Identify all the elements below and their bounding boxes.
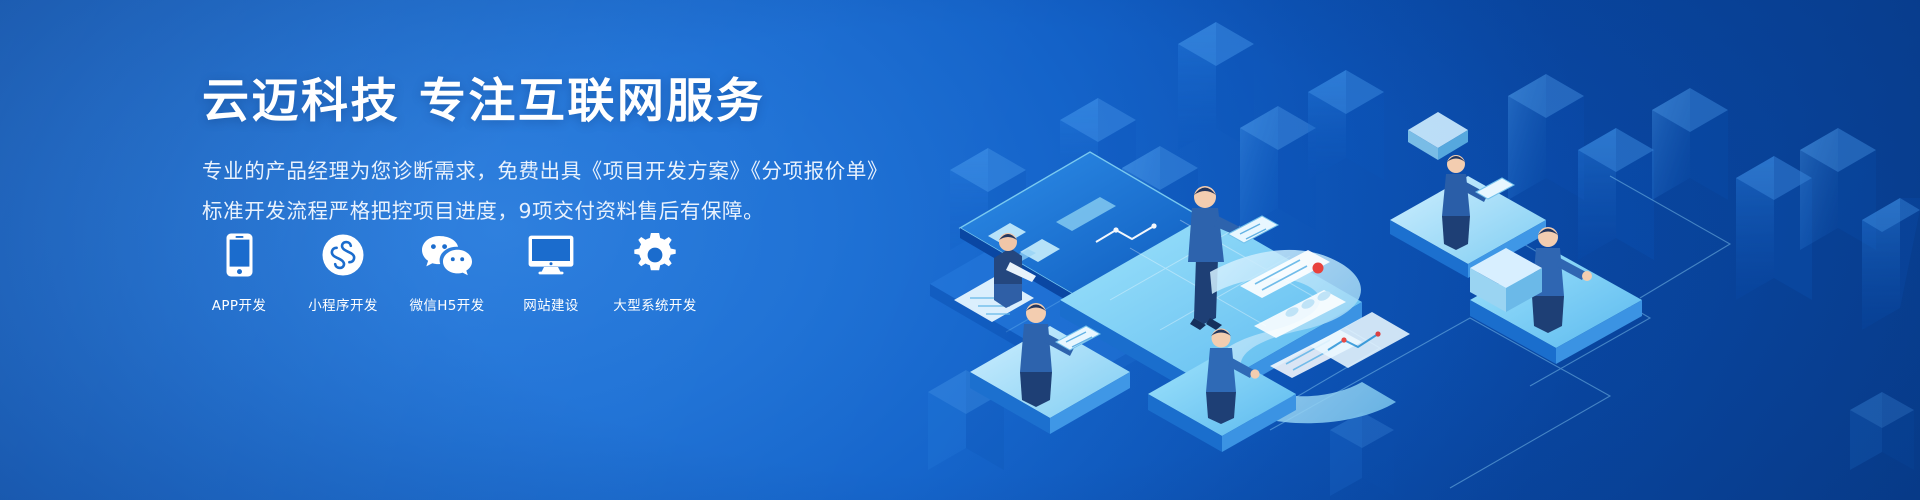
service-item-system[interactable]: 大型系统开发 xyxy=(618,232,692,314)
service-item-wechat[interactable]: 微信H5开发 xyxy=(410,232,484,314)
service-label: 微信H5开发 xyxy=(409,294,484,314)
page-title: 云迈科技 专注互联网服务 xyxy=(202,74,962,129)
hero-text-block: 云迈科技 专注互联网服务 专业的产品经理为您诊断需求，免费出具《项目开发方案》《… xyxy=(202,74,962,231)
subtitle-line-1: 专业的产品经理为您诊断需求，免费出具《项目开发方案》《分项报价单》 xyxy=(202,152,962,191)
subtitle-line-2: 标准开发流程严格把控项目进度，9项交付资料售后有保障。 xyxy=(202,192,962,231)
mobile-phone-icon xyxy=(226,232,253,278)
service-item-app[interactable]: APP开发 xyxy=(202,232,276,314)
hero-banner: 云迈科技 专注互联网服务 专业的产品经理为您诊断需求，免费出具《项目开发方案》《… xyxy=(0,0,1920,500)
service-label: APP开发 xyxy=(212,294,267,314)
floating-badge xyxy=(1408,112,1468,160)
service-item-website[interactable]: 网站建设 xyxy=(514,232,588,314)
mini-program-icon xyxy=(322,232,364,278)
monitor-icon xyxy=(528,232,574,278)
service-label: 小程序开发 xyxy=(308,294,378,314)
gear-icon xyxy=(633,232,677,278)
isometric-illustration xyxy=(910,0,1920,500)
service-list: APP开发 小程序开发 xyxy=(202,232,692,314)
wechat-icon xyxy=(421,232,473,278)
hero-subtitle: 专业的产品经理为您诊断需求，免费出具《项目开发方案》《分项报价单》 标准开发流程… xyxy=(202,152,962,231)
service-label: 大型系统开发 xyxy=(613,294,696,314)
service-label: 网站建设 xyxy=(523,294,579,314)
service-item-mini-program[interactable]: 小程序开发 xyxy=(306,232,380,314)
